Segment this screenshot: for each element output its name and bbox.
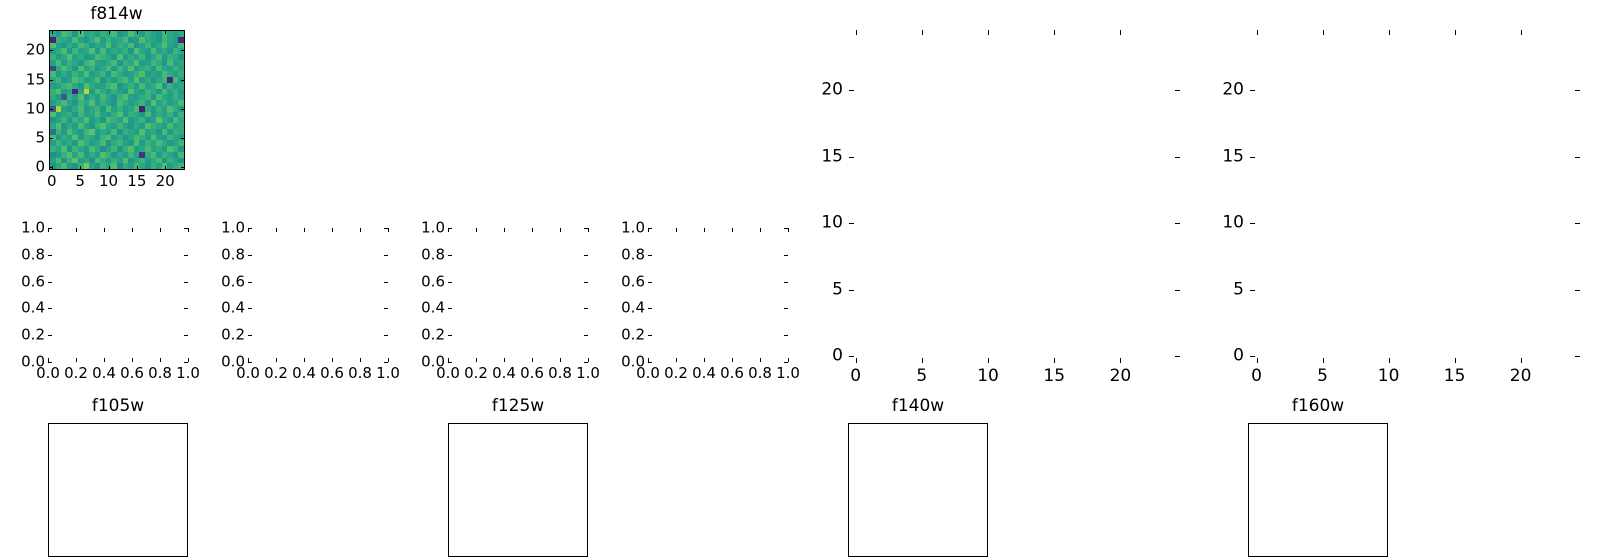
y-tick-mark: [1175, 223, 1180, 224]
x-tick-mark: [788, 228, 789, 232]
x-tick-mark: [760, 358, 761, 362]
x-tick-mark: [476, 228, 477, 232]
y-tick-mark: [1250, 223, 1255, 224]
x-tick-mark: [476, 358, 477, 362]
y-tick-label: 0.8: [13, 247, 45, 262]
y-tick-mark: [1175, 290, 1180, 291]
y-tick-mark: [849, 356, 854, 357]
x-tick-mark: [1323, 358, 1324, 363]
y-tick-mark: [584, 362, 588, 363]
x-tick-label: 0.4: [492, 366, 516, 381]
x-tick-mark: [504, 358, 505, 362]
x-tick-mark: [676, 358, 677, 362]
y-tick-mark: [584, 308, 588, 309]
y-tick-mark: [384, 362, 388, 363]
y-tick-label: 0: [819, 348, 843, 365]
x-tick-label: 10: [1378, 368, 1400, 385]
y-tick-mark: [784, 282, 788, 283]
y-tick-mark: [448, 308, 452, 309]
y-tick-label: 5: [23, 130, 45, 145]
y-tick-mark: [648, 308, 652, 309]
y-tick-mark: [784, 335, 788, 336]
y-tick-mark: [248, 335, 252, 336]
y-tick-label: 0.6: [413, 274, 445, 289]
x-tick-mark: [304, 228, 305, 232]
y-tick-mark: [648, 362, 652, 363]
x-tick-label: 5: [916, 368, 927, 385]
y-tick-mark: [849, 290, 854, 291]
x-tick-mark: [1323, 30, 1324, 35]
y-tick-label: 0.2: [13, 328, 45, 343]
x-tick-mark: [137, 166, 138, 170]
x-tick-mark: [922, 358, 923, 363]
y-tick-mark: [584, 255, 588, 256]
x-tick-mark: [732, 228, 733, 232]
x-tick-mark: [137, 30, 138, 34]
y-tick-label: 0.8: [613, 247, 645, 262]
x-tick-label: 0.4: [292, 366, 316, 381]
y-tick-mark: [384, 255, 388, 256]
x-tick-label: 20: [1110, 368, 1132, 385]
y-tick-mark: [784, 255, 788, 256]
x-tick-label: 0.2: [464, 366, 488, 381]
y-tick-label: 1.0: [613, 221, 645, 236]
y-tick-mark: [384, 228, 388, 229]
y-tick-mark: [584, 282, 588, 283]
x-tick-mark: [1455, 358, 1456, 363]
x-tick-mark: [1521, 30, 1522, 35]
x-tick-mark: [188, 228, 189, 232]
x-tick-mark: [76, 358, 77, 362]
y-tick-mark: [1175, 157, 1180, 158]
y-tick-mark: [1575, 223, 1580, 224]
y-tick-mark: [48, 335, 52, 336]
y-tick-label: 0.4: [613, 301, 645, 316]
y-tick-mark: [448, 228, 452, 229]
x-tick-mark: [80, 166, 81, 170]
y-tick-mark: [181, 50, 185, 51]
x-tick-mark: [188, 358, 189, 362]
y-tick-mark: [49, 109, 53, 110]
y-tick-label: 0.0: [13, 355, 45, 370]
y-tick-label: 20: [23, 43, 45, 58]
x-tick-mark: [1455, 30, 1456, 35]
y-tick-mark: [184, 362, 188, 363]
x-tick-mark: [388, 228, 389, 232]
axes-f160w: [1248, 423, 1388, 557]
y-tick-label: 0: [1220, 348, 1244, 365]
x-tick-mark: [132, 228, 133, 232]
x-tick-mark: [588, 228, 589, 232]
x-tick-mark: [276, 358, 277, 362]
y-tick-label: 0.6: [213, 274, 245, 289]
y-tick-label: 0.0: [613, 355, 645, 370]
x-tick-mark: [109, 30, 110, 34]
axes-f105w: [48, 423, 188, 557]
panel-acs-total: ACS Total: [800, 0, 1200, 400]
y-tick-mark: [181, 167, 185, 168]
y-tick-mark: [248, 255, 252, 256]
y-tick-mark: [384, 308, 388, 309]
x-tick-mark: [532, 358, 533, 362]
x-tick-mark: [560, 358, 561, 362]
x-tick-label: 0.2: [664, 366, 688, 381]
y-tick-mark: [648, 335, 652, 336]
x-tick-label: 10: [99, 174, 118, 189]
y-tick-mark: [584, 228, 588, 229]
x-tick-mark: [988, 358, 989, 363]
x-tick-label: 20: [156, 174, 175, 189]
axes-f140w: [848, 423, 988, 557]
x-tick-mark: [1054, 358, 1055, 363]
x-tick-label: 0.8: [348, 366, 372, 381]
x-tick-mark: [160, 228, 161, 232]
y-tick-mark: [1250, 157, 1255, 158]
panel-title-f140w: f140w: [848, 398, 988, 415]
x-tick-mark: [80, 30, 81, 34]
y-tick-label: 10: [1220, 215, 1244, 232]
x-tick-label: 15: [1444, 368, 1466, 385]
y-tick-label: 0.4: [413, 301, 445, 316]
x-tick-mark: [922, 30, 923, 35]
x-tick-label: 5: [1317, 368, 1328, 385]
y-tick-label: 0.0: [413, 355, 445, 370]
y-tick-label: 0.2: [413, 328, 445, 343]
y-tick-mark: [784, 308, 788, 309]
panel-title-f814w: f814w: [48, 6, 185, 23]
y-tick-mark: [1175, 356, 1180, 357]
y-tick-mark: [1250, 290, 1255, 291]
y-tick-mark: [1175, 90, 1180, 91]
x-tick-mark: [856, 30, 857, 35]
y-tick-mark: [181, 80, 185, 81]
x-tick-label: 0.8: [148, 366, 172, 381]
axes-f814w: [49, 30, 185, 170]
y-tick-label: 0.2: [613, 328, 645, 343]
x-tick-mark: [1389, 358, 1390, 363]
x-tick-label: 0.4: [692, 366, 716, 381]
panel-title-f105w: f105w: [48, 398, 188, 415]
matplotlib-figure: f814w f105w f125w f140w f160w ACS Total …: [0, 0, 1600, 400]
y-tick-label: 20: [819, 81, 843, 98]
x-tick-label: 0.2: [264, 366, 288, 381]
x-tick-mark: [104, 358, 105, 362]
y-tick-mark: [248, 282, 252, 283]
y-tick-label: 0.8: [213, 247, 245, 262]
x-tick-label: 0: [47, 174, 57, 189]
x-tick-mark: [788, 358, 789, 362]
y-tick-mark: [1575, 356, 1580, 357]
x-tick-label: 0: [850, 368, 861, 385]
x-tick-label: 10: [977, 368, 999, 385]
x-tick-mark: [704, 228, 705, 232]
y-tick-label: 10: [23, 101, 45, 116]
y-tick-label: 0: [23, 160, 45, 175]
x-tick-mark: [304, 358, 305, 362]
y-tick-label: 15: [23, 72, 45, 87]
y-tick-label: 0.8: [413, 247, 445, 262]
x-tick-mark: [360, 228, 361, 232]
y-tick-mark: [248, 362, 252, 363]
y-tick-mark: [1575, 90, 1580, 91]
y-tick-mark: [49, 138, 53, 139]
heatmap-grid: [50, 31, 184, 169]
y-tick-label: 0.4: [13, 301, 45, 316]
y-tick-mark: [49, 167, 53, 168]
x-tick-mark: [760, 228, 761, 232]
y-tick-label: 20: [1220, 81, 1244, 98]
y-tick-mark: [784, 228, 788, 229]
x-tick-label: 1.0: [176, 366, 200, 381]
y-tick-mark: [384, 335, 388, 336]
y-tick-label: 1.0: [413, 221, 445, 236]
y-tick-label: 0.2: [213, 328, 245, 343]
y-tick-mark: [49, 50, 53, 51]
y-tick-mark: [248, 228, 252, 229]
x-tick-mark: [1120, 358, 1121, 363]
x-tick-mark: [1521, 358, 1522, 363]
y-tick-mark: [849, 90, 854, 91]
x-tick-mark: [704, 358, 705, 362]
x-tick-label: 20: [1510, 368, 1532, 385]
y-tick-mark: [849, 223, 854, 224]
y-tick-mark: [184, 282, 188, 283]
x-tick-mark: [988, 30, 989, 35]
y-tick-label: 10: [819, 215, 843, 232]
x-tick-label: 0.8: [548, 366, 572, 381]
x-tick-label: 0: [1251, 368, 1262, 385]
panel-title-f125w: f125w: [448, 398, 588, 415]
y-tick-label: 0.0: [213, 355, 245, 370]
x-tick-label: 0.6: [120, 366, 144, 381]
y-tick-mark: [1575, 157, 1580, 158]
y-tick-label: 15: [1220, 148, 1244, 165]
y-tick-mark: [648, 282, 652, 283]
y-tick-mark: [248, 308, 252, 309]
y-tick-mark: [184, 255, 188, 256]
x-tick-mark: [1257, 358, 1258, 363]
x-tick-mark: [52, 30, 53, 34]
y-tick-mark: [184, 228, 188, 229]
x-tick-mark: [1120, 30, 1121, 35]
x-tick-label: 0.2: [64, 366, 88, 381]
y-tick-label: 0.6: [613, 274, 645, 289]
y-tick-mark: [48, 255, 52, 256]
y-tick-mark: [1575, 290, 1580, 291]
panel-wfc3-ir-total: WFC3 IR Total: [1200, 0, 1600, 400]
y-tick-label: 5: [819, 281, 843, 298]
x-tick-label: 0.8: [748, 366, 772, 381]
x-tick-mark: [1389, 30, 1390, 35]
x-tick-mark: [560, 228, 561, 232]
y-tick-mark: [648, 228, 652, 229]
x-tick-mark: [332, 358, 333, 362]
x-tick-mark: [532, 228, 533, 232]
x-tick-mark: [104, 228, 105, 232]
x-tick-mark: [276, 228, 277, 232]
y-tick-mark: [849, 157, 854, 158]
y-tick-mark: [1250, 356, 1255, 357]
y-tick-mark: [448, 282, 452, 283]
y-tick-mark: [384, 282, 388, 283]
y-tick-label: 5: [1220, 281, 1244, 298]
x-tick-label: 0.4: [92, 366, 116, 381]
x-tick-label: 5: [75, 174, 85, 189]
y-tick-label: 0.6: [13, 274, 45, 289]
y-tick-mark: [48, 362, 52, 363]
y-tick-mark: [448, 362, 452, 363]
y-tick-label: 0.4: [213, 301, 245, 316]
y-tick-mark: [48, 228, 52, 229]
y-tick-mark: [448, 335, 452, 336]
y-tick-mark: [181, 138, 185, 139]
y-tick-mark: [784, 362, 788, 363]
y-tick-mark: [448, 255, 452, 256]
x-tick-mark: [360, 358, 361, 362]
y-tick-mark: [181, 109, 185, 110]
x-tick-mark: [676, 228, 677, 232]
y-tick-mark: [648, 255, 652, 256]
x-tick-label: 0.6: [720, 366, 744, 381]
x-tick-mark: [165, 30, 166, 34]
x-tick-mark: [165, 166, 166, 170]
y-tick-mark: [584, 335, 588, 336]
x-tick-mark: [732, 358, 733, 362]
y-tick-mark: [48, 308, 52, 309]
x-tick-mark: [132, 358, 133, 362]
y-tick-label: 1.0: [13, 221, 45, 236]
x-tick-label: 1.0: [576, 366, 600, 381]
x-tick-label: 15: [127, 174, 146, 189]
x-tick-mark: [1054, 30, 1055, 35]
x-tick-label: 1.0: [776, 366, 800, 381]
x-tick-mark: [588, 358, 589, 362]
y-tick-label: 15: [819, 148, 843, 165]
x-tick-mark: [109, 166, 110, 170]
x-tick-label: 1.0: [376, 366, 400, 381]
x-tick-mark: [504, 228, 505, 232]
x-tick-mark: [76, 228, 77, 232]
x-tick-mark: [388, 358, 389, 362]
x-tick-label: 0.6: [520, 366, 544, 381]
x-tick-label: 0.6: [320, 366, 344, 381]
x-tick-mark: [856, 358, 857, 363]
y-tick-mark: [48, 282, 52, 283]
y-tick-mark: [49, 80, 53, 81]
y-tick-mark: [184, 308, 188, 309]
y-tick-mark: [184, 335, 188, 336]
x-tick-mark: [1257, 30, 1258, 35]
panel-title-f160w: f160w: [1248, 398, 1388, 415]
x-tick-mark: [332, 228, 333, 232]
x-tick-mark: [160, 358, 161, 362]
y-tick-label: 1.0: [213, 221, 245, 236]
y-tick-mark: [1250, 90, 1255, 91]
x-tick-label: 15: [1043, 368, 1065, 385]
axes-f125w: [448, 423, 588, 557]
